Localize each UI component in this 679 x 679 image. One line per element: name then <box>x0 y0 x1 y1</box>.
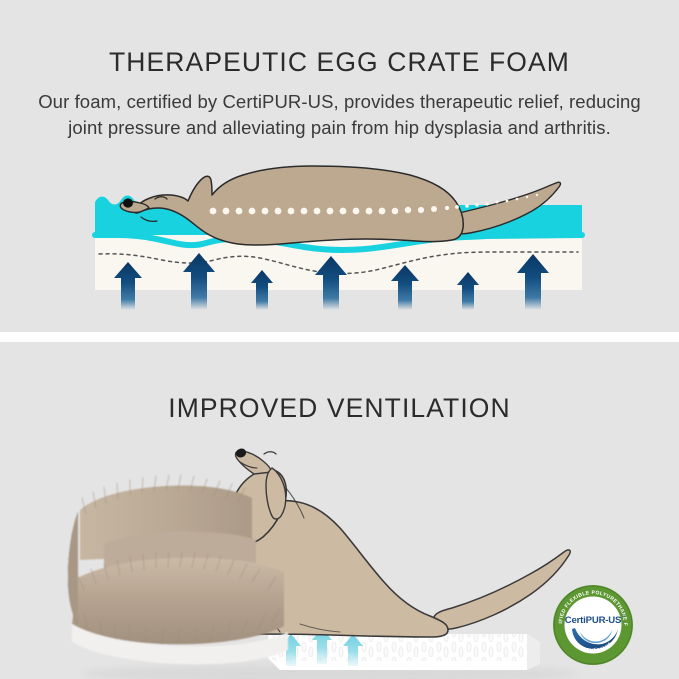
page-title-therapeutic-foam: THERAPEUTIC EGG CRATE FOAM <box>0 49 679 76</box>
egg-crate-foam-base <box>268 634 540 670</box>
badge-registered-mark: ® <box>623 614 626 619</box>
certipur-us-badge: CERTIFIED FLEXIBLE POLYURETHANE FOAM www… <box>552 584 634 666</box>
illustration-dog-on-foam-cross-section <box>0 150 679 332</box>
dog-nose <box>123 198 133 207</box>
subcopy-therapeutic-foam: Our foam, certified by CertiPUR-US, prov… <box>26 89 653 141</box>
panel-therapeutic-foam: THERAPEUTIC EGG CRATE FOAM Our foam, cer… <box>0 0 679 332</box>
badge-center-text: CertiPUR-US <box>565 615 622 626</box>
panel-divider <box>0 332 679 342</box>
infographic-page: THERAPEUTIC EGG CRATE FOAM Our foam, cer… <box>0 0 679 679</box>
